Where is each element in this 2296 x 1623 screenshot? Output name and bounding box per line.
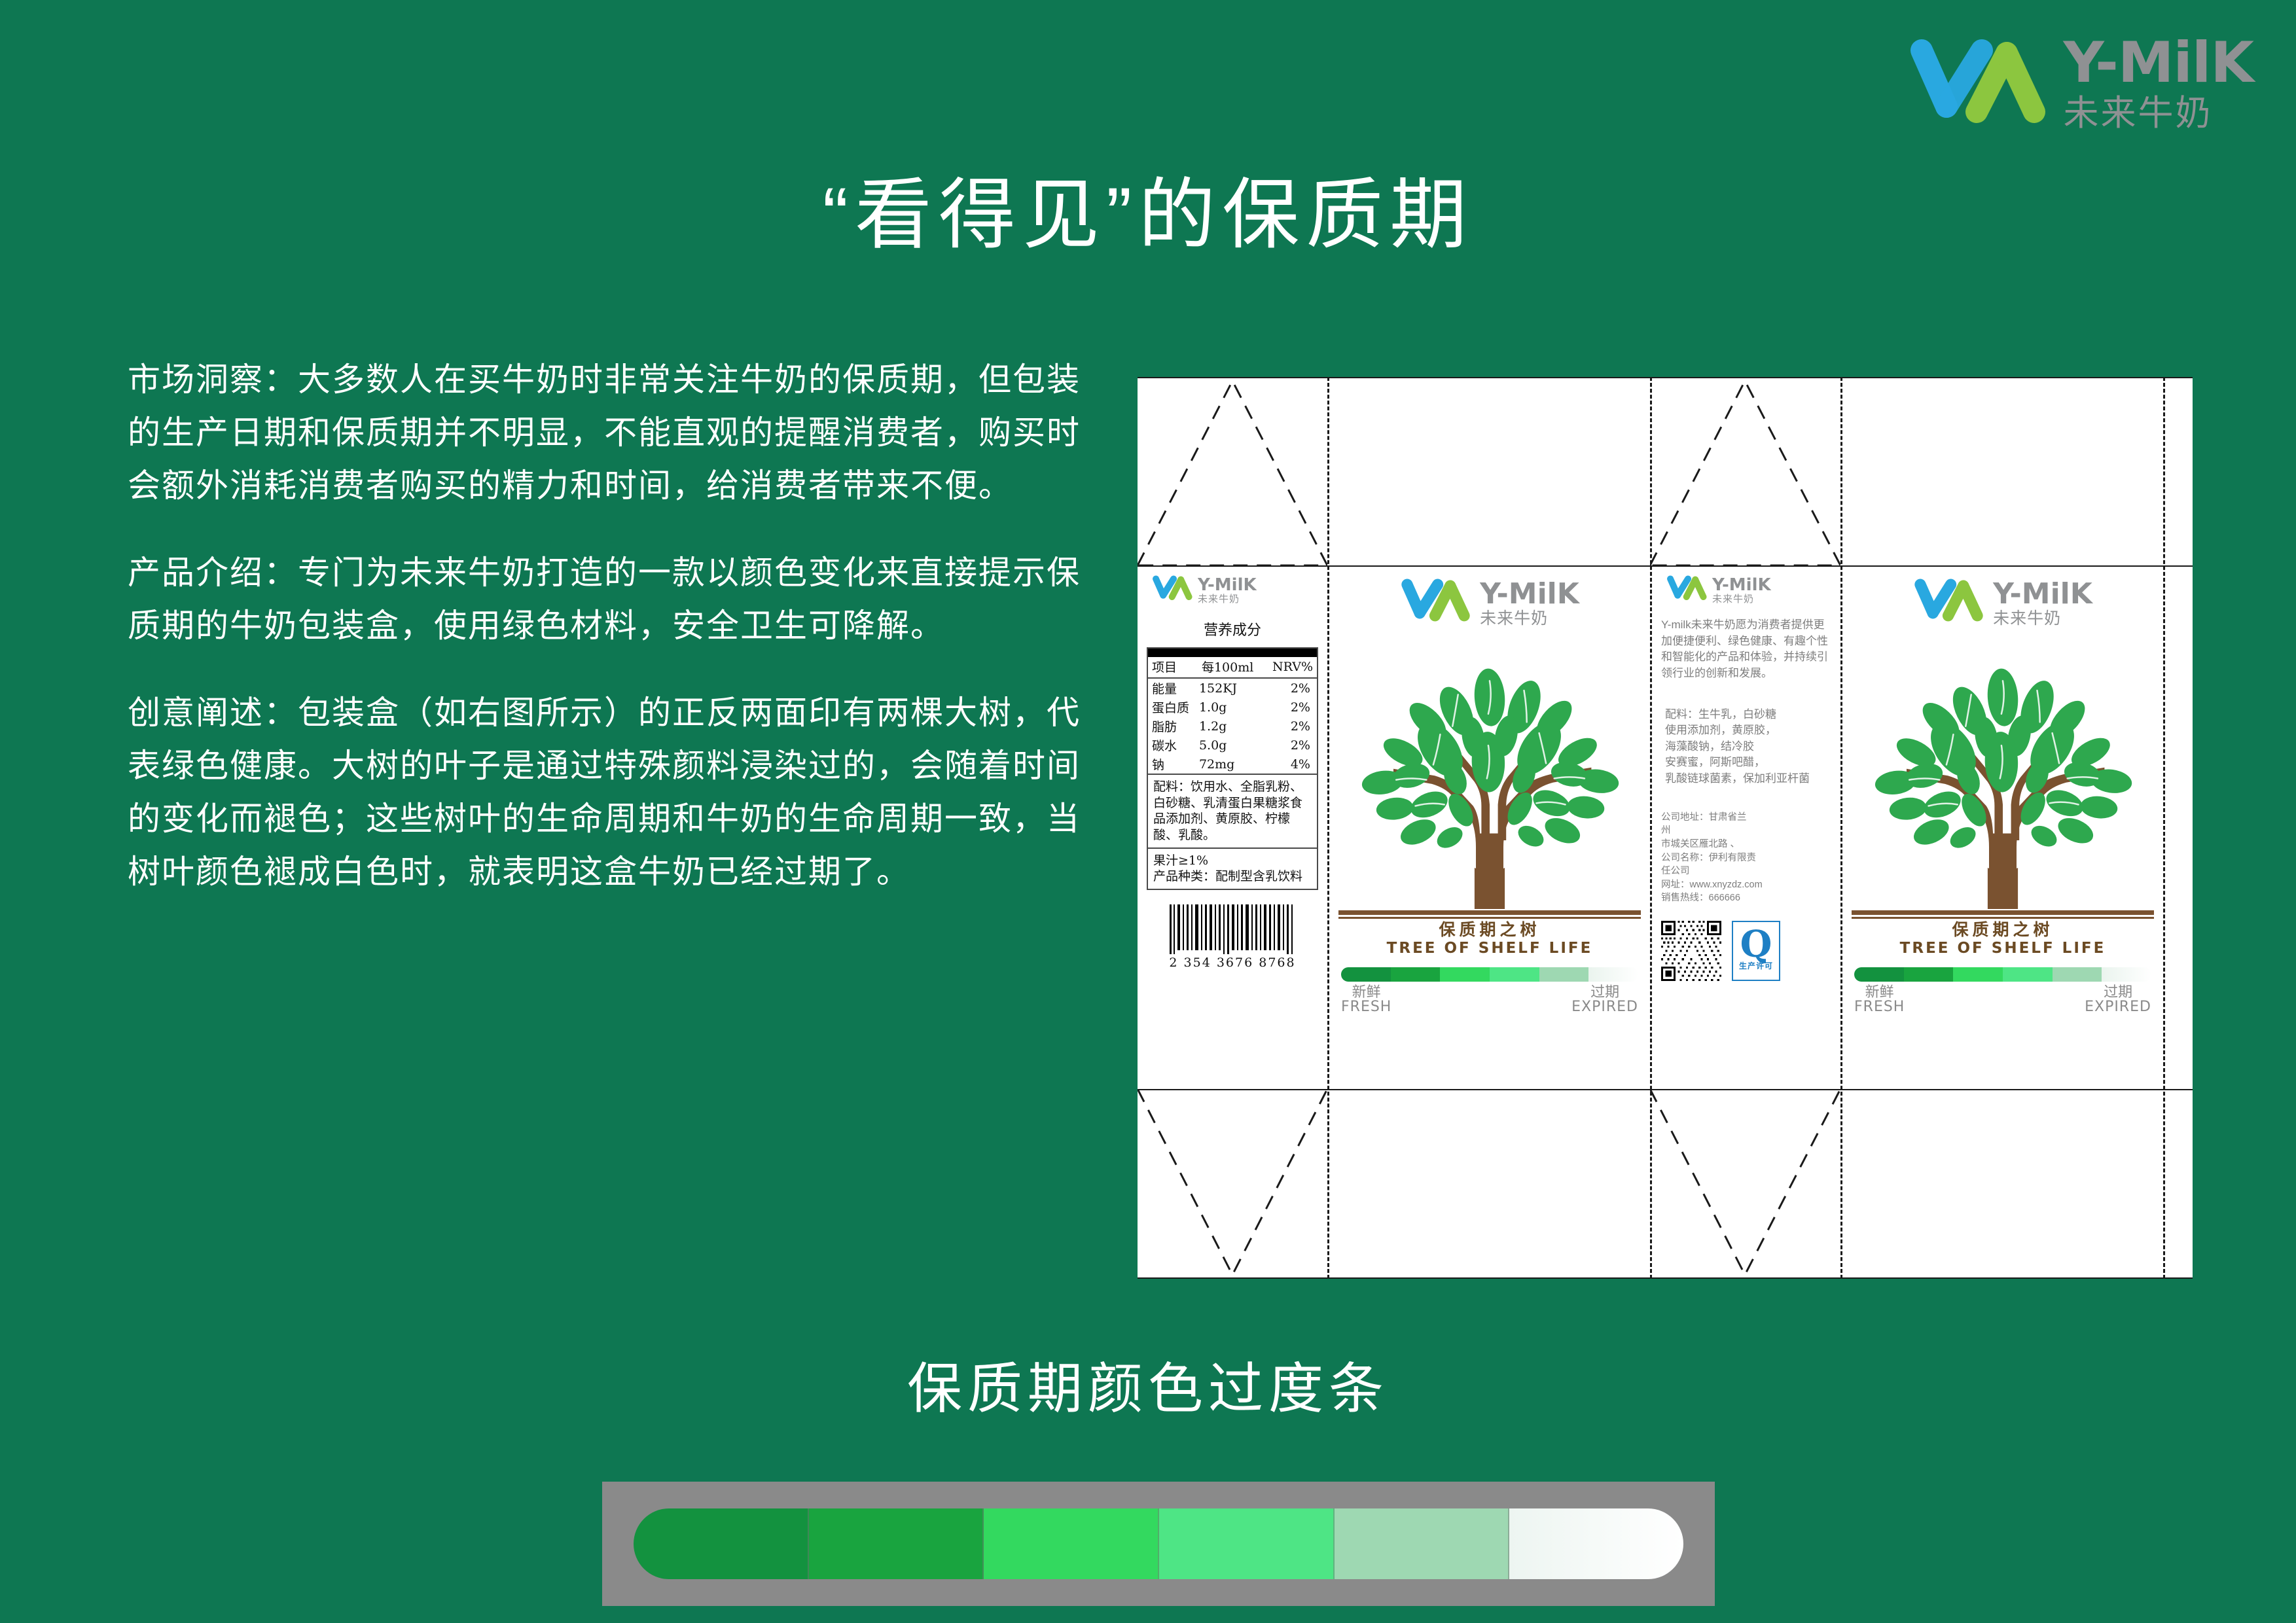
bar-segment (1440, 967, 1490, 982)
label-fresh: 新鲜 FRESH (1341, 984, 1391, 1014)
ingredients-list: 配料：生牛乳，白砂糖 使用添加剂，黄原胶， 海藻酸钠，结冷胶 安赛蜜，阿斯吧醋，… (1665, 707, 1831, 787)
cell-nrv: 2% (1264, 698, 1318, 717)
col-header-per100: 每100ml (1198, 657, 1264, 678)
fold-line (2163, 377, 2165, 1279)
gradient-segment-1 (634, 1508, 809, 1579)
tree-caption-en: TREE OF SHELF LIFE (1329, 940, 1650, 957)
package-panel-info: Y-MilK 未来牛奶 Y-milk未来牛奶愿为消费者提供更加便捷便利、绿色健康… (1652, 565, 1840, 1089)
panel-brand-name: Y-MilK (1712, 577, 1771, 594)
nutrition-table: 项目 每100ml NRV% 能量 152KJ 2% 蛋白质 1.0g 2% 脂… (1148, 657, 1317, 774)
gradient-segment-6 (1509, 1508, 1683, 1579)
tree-caption-cn: 保质期之树 (1329, 921, 1650, 940)
cell-label: 蛋白质 (1148, 698, 1198, 717)
panel-brand-name-cn: 未来牛奶 (1993, 609, 2092, 628)
label-expired-en: EXPIRED (1571, 999, 1638, 1014)
cell-label: 碳水 (1148, 736, 1198, 755)
gusset-triangle (1650, 377, 1840, 565)
cell-label: 钠 (1148, 755, 1198, 774)
panel-brand-name: Y-MilK (1480, 580, 1579, 609)
package-dieline: Y-MilK 未来牛奶 营养成分 项目 每100ml NRV% 能量 152KJ… (1138, 377, 2193, 1279)
color-gradient-pill (634, 1508, 1683, 1579)
brown-divider (1852, 910, 2154, 919)
ym-logo-mark (1909, 36, 2046, 134)
cell-nrv: 2% (1264, 678, 1318, 698)
nutrition-ingredients: 配料：饮用水、全脂乳粉、白砂糖、乳清蛋白果糖浆食品添加剂、黄原胶、柠檬酸、乳酸。 (1148, 774, 1317, 847)
table-row: 脂肪 1.2g 2% (1148, 717, 1317, 736)
nutrition-extra: 果汁≥1% 产品种类：配制型含乳饮料 (1148, 847, 1317, 889)
ym-logo-mark-small (1152, 575, 1193, 607)
table-row: 钠 72mg 4% (1148, 755, 1317, 774)
gusset-triangle (1138, 1089, 1327, 1277)
shelf-life-bar (1341, 967, 1638, 982)
certification-marks: Q 生产许可 (1661, 921, 1840, 981)
panel-logo: Y-MilK 未来牛奶 (1666, 575, 1840, 607)
company-info: 公司地址：甘肃省兰 州 市城关区雁北路 、 公司名称：伊利有限责 任公司 网址：… (1661, 811, 1831, 905)
sq-production-license-mark: Q 生产许可 (1732, 921, 1780, 981)
ym-logo-mark-small (1666, 575, 1707, 607)
bar-segment (1904, 967, 1954, 982)
paragraph-market-insight: 市场洞察：大多数人在买牛奶时非常关注牛奶的保质期，但包装的生产日期和保质期并不明… (128, 353, 1090, 512)
gradient-segment-2 (809, 1508, 984, 1579)
tree-caption-cn: 保质期之树 (1842, 921, 2163, 940)
paragraph-concept: 创意阐述：包装盒（如右图所示）的正反两面印有两棵大树，代表绿色健康。大树的叶子是… (128, 687, 1090, 899)
label-expired: 过期 EXPIRED (2085, 984, 2151, 1014)
bar-segment (1391, 967, 1441, 982)
sq-text: 生产许可 (1739, 960, 1773, 971)
bar-segment (2053, 967, 2102, 982)
bar-segment (1588, 967, 1638, 982)
bar-segment (1854, 967, 1904, 982)
ym-logo-mark-small (1400, 577, 1471, 630)
gradient-segment-5 (1335, 1508, 1510, 1579)
gradient-segment-3 (984, 1508, 1159, 1579)
col-header-nrv: NRV% (1264, 657, 1318, 678)
panel-brand-name-cn: 未来牛奶 (1712, 594, 1771, 605)
barcode-number: 2 354 3676 8768 (1138, 955, 1327, 970)
table-row: 能量 152KJ 2% (1148, 678, 1317, 698)
label-fresh: 新鲜 FRESH (1854, 984, 1905, 1014)
brand-name-cn: 未来牛奶 (2063, 93, 2212, 134)
cell-nrv: 4% (1264, 755, 1318, 774)
cell-value: 1.0g (1198, 698, 1264, 717)
tree-caption: 保质期之树 TREE OF SHELF LIFE (1842, 921, 2163, 957)
label-fresh-en: FRESH (1341, 999, 1391, 1014)
panel-brand-name-cn: 未来牛奶 (1480, 609, 1579, 628)
cell-value: 72mg (1198, 755, 1264, 774)
nutrition-black-bar (1148, 649, 1317, 657)
qr-code-icon (1661, 921, 1721, 981)
copy-column: 市场洞察：大多数人在买牛奶时非常关注牛奶的保质期，但包装的生产日期和保质期并不明… (128, 353, 1090, 933)
bottom-section-title: 保质期颜色过度条 (0, 1345, 2296, 1424)
cell-label: 脂肪 (1148, 717, 1198, 736)
table-header-row: 项目 每100ml NRV% (1148, 657, 1317, 678)
label-fresh-cn: 新鲜 (1341, 984, 1391, 999)
tree-caption: 保质期之树 TREE OF SHELF LIFE (1329, 921, 1650, 957)
bar-segment (1490, 967, 1539, 982)
cell-label: 能量 (1148, 678, 1198, 698)
ym-logo-mark-small (1913, 577, 1984, 630)
cell-nrv: 2% (1264, 717, 1318, 736)
panel-brand-name-cn: 未来牛奶 (1198, 594, 1257, 605)
brown-divider (1338, 910, 1641, 919)
brand-logo: Y-MilK 未来牛奶 (1909, 36, 2253, 134)
package-panel-nutrition: Y-MilK 未来牛奶 营养成分 项目 每100ml NRV% 能量 152KJ… (1138, 565, 1327, 1089)
panel-logo: Y-MilK 未来牛奶 (1329, 577, 1650, 630)
bar-segment (1539, 967, 1589, 982)
bar-segment (1953, 967, 2003, 982)
cell-value: 1.2g (1198, 717, 1264, 736)
package-panel-front: Y-MilK 未来牛奶 (1329, 565, 1650, 1089)
panel-logo: Y-MilK 未来牛奶 (1842, 577, 2163, 630)
bar-segment (2102, 967, 2151, 982)
label-fresh-cn: 新鲜 (1854, 984, 1905, 999)
panel-brand-name: Y-MilK (1198, 577, 1257, 594)
brand-name: Y-MilK (2063, 37, 2253, 90)
brand-statement: Y-milk未来牛奶愿为消费者提供更加便捷便利、绿色健康、有趣个性和智能化的产品… (1661, 617, 1831, 682)
page-title: “看得见”的保质期 (0, 152, 2296, 264)
package-panel-back: Y-MilK 未来牛奶 (1842, 565, 2163, 1089)
nutrition-title: 营养成分 (1138, 618, 1327, 639)
barcode-icon (1167, 904, 1298, 954)
shelf-life-bar (1854, 967, 2151, 982)
tree-illustration (1842, 634, 2163, 909)
bar-segment (1341, 967, 1391, 982)
gradient-segment-4 (1159, 1508, 1335, 1579)
gusset-triangle (1138, 377, 1327, 565)
cell-value: 152KJ (1198, 678, 1264, 698)
sq-letter: Q (1740, 930, 1772, 960)
tree-illustration (1329, 634, 1650, 909)
label-expired-cn: 过期 (1571, 984, 1638, 999)
gusset-triangle (1650, 1089, 1840, 1277)
barcode-block: 2 354 3676 8768 (1138, 904, 1327, 970)
panel-logo: Y-MilK 未来牛奶 (1152, 575, 1327, 607)
tree-caption-en: TREE OF SHELF LIFE (1842, 940, 2163, 957)
table-row: 蛋白质 1.0g 2% (1148, 698, 1317, 717)
label-expired-en: EXPIRED (2085, 999, 2151, 1014)
nutrition-box: 项目 每100ml NRV% 能量 152KJ 2% 蛋白质 1.0g 2% 脂… (1147, 647, 1318, 890)
label-expired: 过期 EXPIRED (1571, 984, 1638, 1014)
label-fresh-en: FRESH (1854, 999, 1905, 1014)
panel-brand-name: Y-MilK (1993, 580, 2092, 609)
color-transition-strip (602, 1482, 1715, 1606)
edge-line (1138, 1277, 2193, 1279)
shelf-life-indicator: 新鲜 FRESH 过期 EXPIRED (1341, 967, 1638, 1014)
table-row: 碳水 5.0g 2% (1148, 736, 1317, 755)
col-header-item: 项目 (1148, 657, 1198, 678)
cell-nrv: 2% (1264, 736, 1318, 755)
bar-segment (2003, 967, 2053, 982)
label-expired-cn: 过期 (2085, 984, 2151, 999)
paragraph-product-intro: 产品介绍：专门为未来牛奶打造的一款以颜色变化来直接提示保质期的牛奶包装盒，使用绿… (128, 546, 1090, 652)
shelf-life-indicator: 新鲜 FRESH 过期 EXPIRED (1854, 967, 2151, 1014)
cell-value: 5.0g (1198, 736, 1264, 755)
